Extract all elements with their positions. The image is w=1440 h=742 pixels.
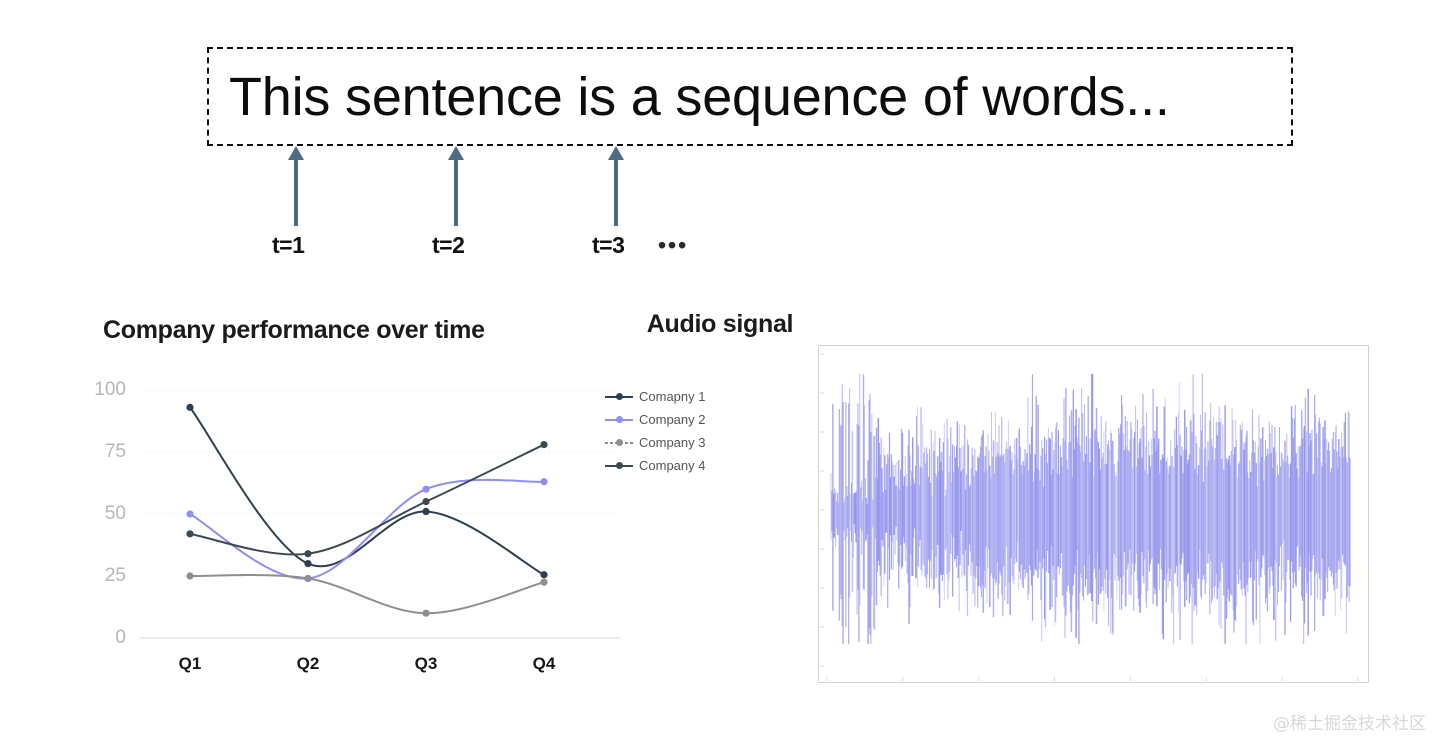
watermark: @稀土掘金技术社区 <box>1273 709 1426 734</box>
timestep-label-2: t=2 <box>432 232 464 259</box>
legend-label: Company 2 <box>639 412 705 427</box>
timestep-arrow-3-icon <box>607 146 625 226</box>
data-point <box>540 571 547 578</box>
y-tick-label: 25 <box>80 565 126 587</box>
data-point <box>186 404 193 411</box>
legend-item-2[interactable]: Company 2 <box>605 408 735 431</box>
data-point <box>540 441 547 448</box>
right-chart-title: Audio signal <box>0 310 1440 339</box>
data-point <box>422 498 429 505</box>
data-point <box>304 575 311 582</box>
sentence-text: This sentence is a sequence of words... <box>229 66 1170 128</box>
timestep-arrow-1-icon <box>287 146 305 226</box>
audio-signal-plot <box>818 345 1369 683</box>
legend-item-1[interactable]: Comapny 1 <box>605 385 735 408</box>
sentence-box: This sentence is a sequence of words... <box>207 47 1293 146</box>
timestep-ellipsis: ••• <box>658 232 688 259</box>
series-line <box>190 575 544 613</box>
series-line <box>190 407 544 574</box>
data-point <box>422 486 429 493</box>
x-tick-label: Q1 <box>179 654 202 674</box>
company-performance-chart: 0255075100 Q1Q2Q3Q4 <box>60 370 620 690</box>
data-point <box>422 508 429 515</box>
data-point <box>186 572 193 579</box>
legend-label: Comapny 1 <box>639 389 705 404</box>
timestep-label-1: t=1 <box>272 232 304 259</box>
data-point <box>186 530 193 537</box>
timestep-label-3: t=3 <box>592 232 624 259</box>
audio-waveform <box>819 346 1368 682</box>
data-point <box>186 510 193 517</box>
y-tick-label: 100 <box>80 379 126 401</box>
series-line <box>190 480 544 579</box>
data-point <box>422 610 429 617</box>
x-tick-label: Q3 <box>415 654 438 674</box>
data-point <box>304 550 311 557</box>
legend-swatch-icon <box>605 414 633 426</box>
x-tick-label: Q2 <box>297 654 320 674</box>
y-tick-label: 0 <box>80 627 126 649</box>
line-plot <box>140 370 620 660</box>
timestep-arrow-2-icon <box>447 146 465 226</box>
legend-swatch-icon <box>605 391 633 403</box>
x-tick-label: Q4 <box>533 654 556 674</box>
legend-item-3[interactable]: Company 3 <box>605 431 735 454</box>
legend-label: Company 3 <box>639 435 705 450</box>
waveform-traces <box>831 374 1350 644</box>
y-tick-label: 75 <box>80 441 126 463</box>
y-axis-ticks: 0255075100 <box>80 370 126 690</box>
legend-swatch-icon <box>605 437 633 449</box>
legend-label: Company 4 <box>639 458 705 473</box>
data-point <box>540 478 547 485</box>
y-tick-label: 50 <box>80 503 126 525</box>
data-point <box>304 560 311 567</box>
legend-swatch-icon <box>605 460 633 472</box>
data-point <box>540 579 547 586</box>
chart-legend: Comapny 1Company 2Company 3Company 4 <box>605 385 735 477</box>
legend-item-4[interactable]: Company 4 <box>605 454 735 477</box>
